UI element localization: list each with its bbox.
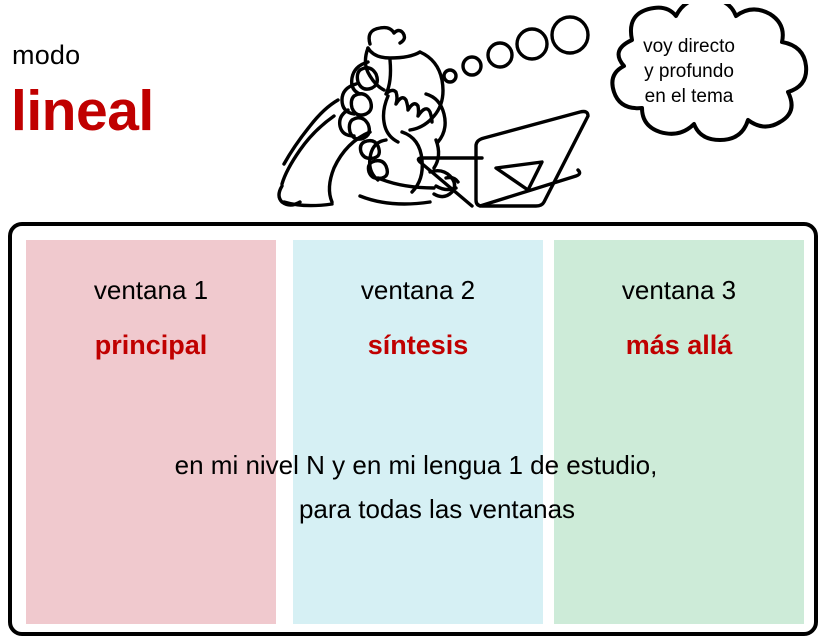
- thought-bubble-line-3: en el tema: [558, 84, 820, 109]
- page-title: lineal: [11, 78, 154, 144]
- window-column-1[interactable]: ventana 1 principal: [26, 240, 276, 624]
- thought-bubble-line-2: y profundo: [558, 59, 820, 84]
- window-column-1-value: principal: [26, 330, 276, 361]
- title-kicker: modo: [12, 40, 80, 71]
- thought-bubble-text: voy directo y profundo en el tema: [558, 34, 820, 109]
- window-column-2-value: síntesis: [293, 330, 543, 361]
- slide-canvas: modo lineal: [0, 0, 826, 644]
- window-column-2[interactable]: ventana 2 síntesis: [293, 240, 543, 624]
- thought-bubble: voy directo y profundo en el tema: [558, 4, 820, 164]
- windows-columns: ventana 1 principal ventana 2 síntesis v…: [26, 240, 806, 624]
- thought-bubble-line-1: voy directo: [558, 34, 820, 59]
- window-column-3-label: ventana 3: [554, 275, 804, 306]
- window-column-3[interactable]: ventana 3 más allá: [554, 240, 804, 624]
- window-column-2-label: ventana 2: [293, 275, 543, 306]
- window-column-3-value: más allá: [554, 330, 804, 361]
- window-column-1-label: ventana 1: [26, 275, 276, 306]
